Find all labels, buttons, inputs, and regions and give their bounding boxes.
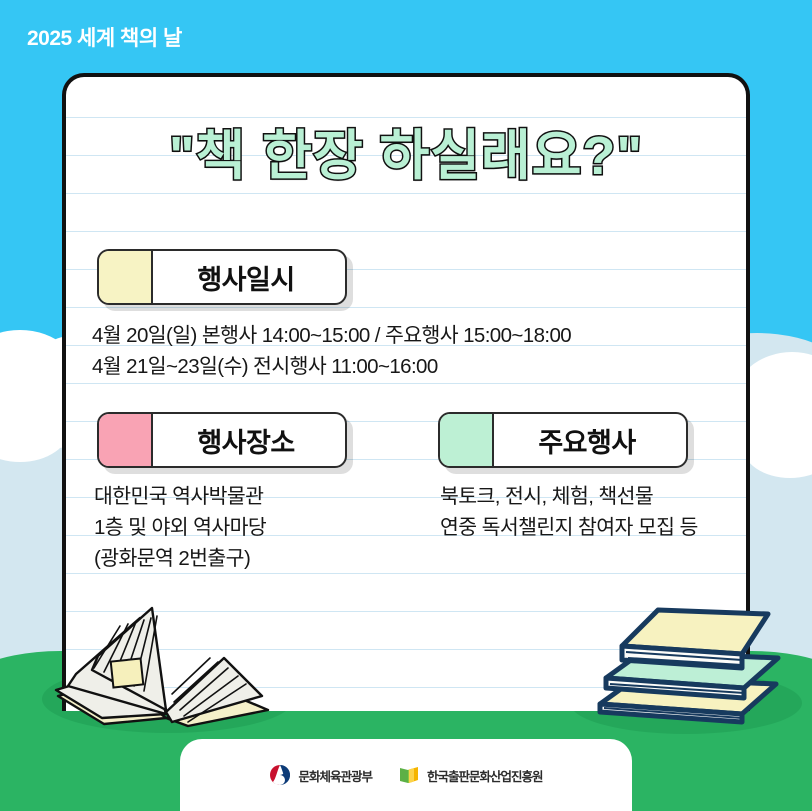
body-line: 연중 독서챌린지 참여자 모집 등 bbox=[440, 512, 698, 543]
section-label-text: 주요행사 bbox=[494, 414, 686, 466]
poster-canvas: 2025 세계 책의 날 "책 한장 하실래요?" 행사일시 bbox=[0, 0, 812, 811]
logo-label: 한국출판문화산업진흥원 bbox=[427, 766, 543, 785]
section-body-place: 대한민국 역사박물관 1층 및 야외 역사마당 (광화문역 2번출구) bbox=[94, 481, 266, 574]
body-line: 북토크, 전시, 체험, 책선물 bbox=[440, 481, 698, 512]
body-line: 대한민국 역사박물관 bbox=[94, 481, 266, 512]
section-label-place: 행사장소 bbox=[97, 412, 347, 468]
logo-kpipa: 한국출판문화산업진흥원 bbox=[398, 764, 543, 786]
body-line: 4월 21일~23일(수) 전시행사 11:00~16:00 bbox=[92, 351, 571, 382]
page-title: 2025 세계 책의 날 bbox=[27, 22, 182, 52]
body-line: 1층 및 야외 역사마당 bbox=[94, 512, 266, 543]
taegeuk-icon bbox=[269, 764, 291, 786]
swatch-date bbox=[99, 251, 153, 303]
body-line: (광화문역 2번출구) bbox=[94, 543, 266, 574]
book-stack-illustration bbox=[592, 592, 792, 732]
section-label-text: 행사장소 bbox=[153, 414, 345, 466]
section-body-date: 4월 20일(일) 본행사 14:00~15:00 / 주요행사 15:00~1… bbox=[92, 320, 571, 382]
swatch-place bbox=[99, 414, 153, 466]
poster-title: "책 한장 하실래요?" bbox=[66, 111, 746, 190]
open-book-illustration bbox=[48, 598, 288, 730]
section-body-program: 북토크, 전시, 체험, 책선물 연중 독서챌린지 참여자 모집 등 bbox=[440, 481, 698, 543]
section-label-date: 행사일시 bbox=[97, 249, 347, 305]
logo-mcst: 문화체육관광부 bbox=[269, 764, 372, 786]
open-book-logo-icon bbox=[398, 764, 420, 786]
logo-label: 문화체육관광부 bbox=[298, 766, 372, 785]
section-label-text: 행사일시 bbox=[153, 251, 345, 303]
body-line: 4월 20일(일) 본행사 14:00~15:00 / 주요행사 15:00~1… bbox=[92, 320, 571, 351]
section-label-program: 주요행사 bbox=[438, 412, 688, 468]
swatch-program bbox=[440, 414, 494, 466]
header-bar: 2025 세계 책의 날 bbox=[0, 0, 812, 73]
footer-logo-panel: 문화체육관광부 한국출판문화산업진흥원 bbox=[180, 739, 632, 811]
